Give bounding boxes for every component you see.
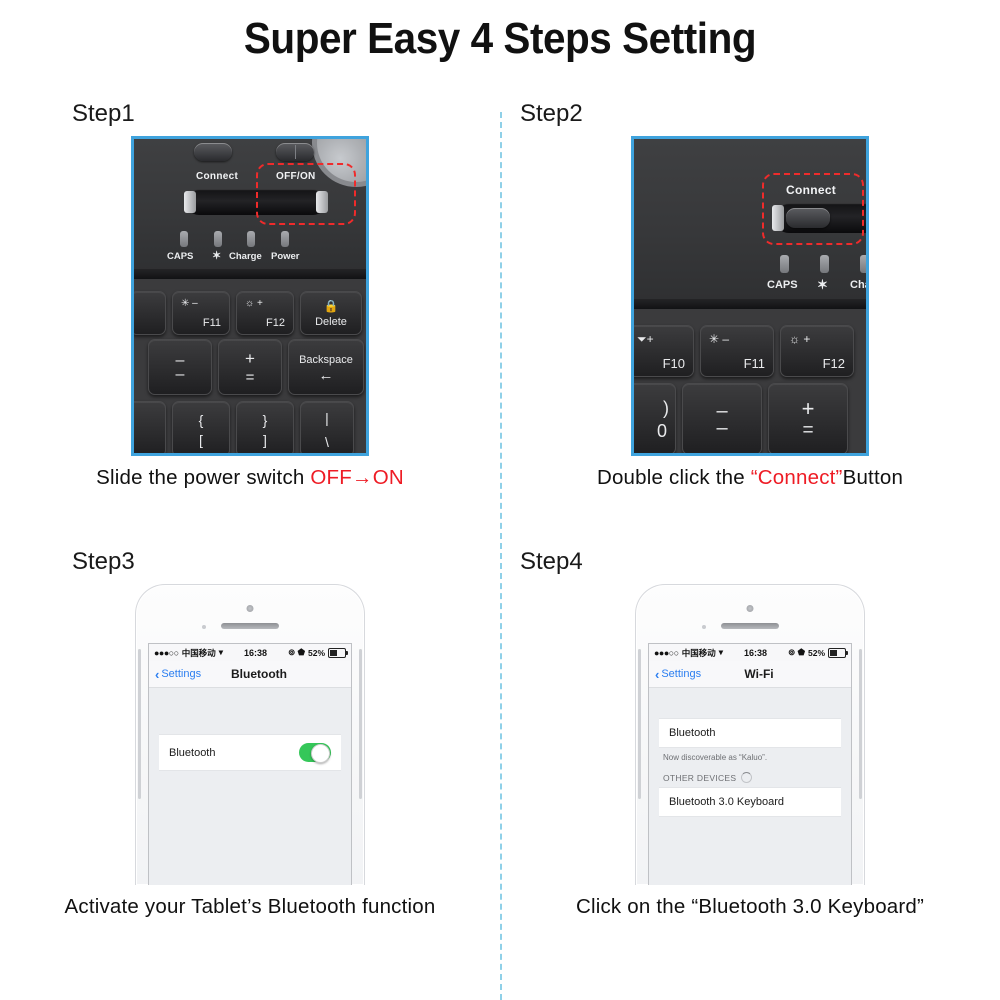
connect-switch-knob[interactable]: [194, 143, 232, 161]
key-plus-bottom: =: [769, 420, 847, 442]
led-charge: [860, 255, 869, 273]
screen-title: Bluetooth: [167, 667, 351, 681]
key-partial-p[interactable]: [131, 401, 166, 456]
battery-percent: 52%: [808, 648, 825, 658]
phone-bezel-right: [859, 649, 862, 799]
front-camera-icon: [747, 605, 754, 612]
key-f12-label: F12: [823, 356, 845, 371]
step-4-phone-mockup: ●●●○○ 中国移动 ▾ 16:38 ⊚ ⬟ 52% ‹ Settings: [635, 584, 865, 885]
key-brace-right: }: [237, 412, 293, 428]
key-backspace[interactable]: Backspace ←: [288, 339, 364, 395]
key-f12-glyph: ☼ +: [245, 298, 263, 309]
key-zero[interactable]: ) 0: [631, 383, 676, 455]
led-caps: [780, 255, 789, 273]
other-devices-header: OTHER DEVICES: [663, 772, 837, 783]
phone-bezel-right: [359, 649, 362, 799]
step-1-caption: Slide the power switch OFF→ON: [0, 466, 500, 490]
arrow-left-icon: ←: [289, 367, 363, 384]
led-bluetooth: [214, 231, 222, 247]
key-minus[interactable]: – –: [682, 383, 762, 455]
step-4-cell: Step4 ●●●○○ 中国移动 ▾ 16:38 ⊚ ⬟ 52%: [500, 548, 1000, 919]
status-left: ●●●○○ 中国移动 ▾: [654, 647, 723, 659]
bluetooth-row[interactable]: Bluetooth: [659, 718, 841, 748]
step-3-label: Step3: [72, 548, 500, 576]
key-backspace-label: Backspace: [289, 354, 363, 366]
key-minus[interactable]: – –: [148, 339, 212, 395]
led-label-caps: CAPS: [167, 251, 193, 262]
toggle-knob: [311, 744, 330, 763]
switch-cap-left: [184, 191, 196, 213]
key-f11-label: F11: [744, 356, 765, 371]
status-icons: ⊚ ⬟: [288, 647, 305, 658]
key-plus-bottom: =: [219, 369, 281, 386]
volume-up-icon: ⏷+: [637, 332, 654, 347]
bluetooth-row-label: Bluetooth: [669, 727, 715, 739]
step-2-cell: Step2 Connect CAPS ✶ Cha ⏷+ F10 ✳ – F11: [500, 100, 1000, 490]
key-backslash-label: \: [301, 434, 353, 450]
nav-bar: ‹ Settings Bluetooth: [149, 661, 351, 688]
key-bracket-left[interactable]: { [: [172, 401, 230, 456]
key-f11-glyph: ✳ –: [709, 332, 729, 346]
key-zero-label: 0: [657, 421, 667, 442]
battery-icon: [828, 648, 846, 658]
step-4-phone-screen: ●●●○○ 中国移动 ▾ 16:38 ⊚ ⬟ 52% ‹ Settings: [648, 643, 852, 885]
signal-dots-icon: ●●●○○: [654, 648, 679, 658]
key-f12[interactable]: ☼ + F12: [236, 291, 294, 335]
red-highlight-connect: [762, 173, 864, 245]
key-f11[interactable]: ✳ – F11: [172, 291, 230, 335]
chevron-left-icon: ‹: [155, 668, 159, 681]
key-delete[interactable]: 🔒 Delete: [300, 291, 362, 335]
key-plus[interactable]: + =: [768, 383, 848, 455]
screen-spacer: [149, 688, 351, 734]
step-2-keyboard-photo: Connect CAPS ✶ Cha ⏷+ F10 ✳ – F11 ☼ +: [631, 136, 869, 456]
screen-title: Wi-Fi: [667, 667, 851, 681]
screen-spacer: [649, 688, 851, 718]
step-1-caption-prefix: Slide the power switch: [96, 466, 310, 489]
key-f10-label: F10: [663, 356, 685, 371]
step-2-label: Step2: [520, 100, 1000, 128]
phone-bezel-left: [138, 649, 141, 799]
step-3-phone-mockup: ●●●○○ 中国移动 ▾ 16:38 ⊚ ⬟ 52% ‹ Settings: [135, 584, 365, 885]
step-2-caption-prefix: Double click the: [597, 466, 751, 489]
led-label-charge: Cha: [850, 279, 869, 291]
bluetooth-toggle[interactable]: [299, 743, 331, 762]
front-camera-icon: [247, 605, 254, 612]
proximity-sensor-icon: [702, 625, 706, 629]
step-1-caption-highlight: OFF→ON: [310, 466, 403, 489]
step-4-caption: Click on the “Bluetooth 3.0 Keyboard”: [500, 895, 1000, 919]
step-3-cell: Step3 ●●●○○ 中国移动 ▾ 16:38 ⊚ ⬟ 52%: [0, 548, 500, 919]
battery-percent: 52%: [308, 648, 325, 658]
carrier-label: 中国移动: [682, 647, 716, 659]
step-4-caption-text: Click on the “Bluetooth 3.0 Keyboard”: [576, 895, 924, 918]
bluetooth-icon: ✶: [212, 249, 221, 262]
status-time: 16:38: [723, 648, 788, 658]
step-1-label: Step1: [72, 100, 500, 128]
key-bracket-right[interactable]: } ]: [236, 401, 294, 456]
key-brace-left: {: [173, 412, 229, 428]
connect-label: Connect: [196, 171, 238, 182]
battery-icon: [328, 648, 346, 658]
status-right: ⊚ ⬟ 52%: [288, 647, 346, 658]
steps-grid: Step1 Connect OFF/ON CAPS ✶ Charge Power: [0, 100, 1000, 1000]
status-bar: ●●●○○ 中国移动 ▾ 16:38 ⊚ ⬟ 52%: [149, 644, 351, 661]
red-highlight-off-on: [256, 163, 356, 225]
step-2-caption-highlight: “Connect”: [751, 466, 843, 489]
key-paren-right: ): [663, 398, 669, 419]
key-bracket-left-label: [: [173, 432, 229, 448]
status-bar: ●●●○○ 中国移动 ▾ 16:38 ⊚ ⬟ 52%: [649, 644, 851, 661]
key-f12[interactable]: ☼ + F12: [780, 325, 854, 377]
step-3-caption: Activate your Tablet’s Bluetooth functio…: [0, 895, 500, 919]
step-1-cell: Step1 Connect OFF/ON CAPS ✶ Charge Power: [0, 100, 500, 490]
key-delete-label: Delete: [301, 316, 361, 328]
key-backslash[interactable]: | \: [300, 401, 354, 456]
earpiece-speaker: [221, 623, 279, 629]
led-label-caps: CAPS: [767, 279, 798, 291]
step-3-caption-text: Activate your Tablet’s Bluetooth functio…: [65, 895, 436, 918]
step-1-keyboard-photo: Connect OFF/ON CAPS ✶ Charge Power ✳ –: [131, 136, 369, 456]
key-plus-top: +: [769, 396, 847, 422]
earpiece-speaker: [721, 623, 779, 629]
key-f12-label: F12: [266, 317, 285, 329]
key-f10[interactable]: ⏷+ F10: [631, 325, 694, 377]
discoverable-note: Now discoverable as “Kaluo”.: [663, 753, 837, 762]
power-switch-knob[interactable]: [276, 143, 314, 161]
key-minus-bottom: –: [683, 417, 761, 440]
signal-dots-icon: ●●●○○: [154, 648, 179, 658]
led-bluetooth: [820, 255, 829, 273]
loading-spinner-icon: [741, 772, 752, 783]
led-label-power: Power: [271, 251, 300, 262]
lock-icon: 🔒: [301, 299, 361, 313]
other-devices-label: OTHER DEVICES: [663, 773, 736, 783]
step-3-phone-screen: ●●●○○ 中国移动 ▾ 16:38 ⊚ ⬟ 52% ‹ Settings: [148, 643, 352, 885]
proximity-sensor-icon: [202, 625, 206, 629]
status-time: 16:38: [223, 648, 288, 658]
device-name-label: Bluetooth 3.0 Keyboard: [669, 796, 784, 808]
status-left: ●●●○○ 中国移动 ▾: [154, 647, 223, 659]
nav-bar: ‹ Settings Wi-Fi: [649, 661, 851, 688]
key-f11-glyph: ✳ –: [181, 298, 198, 309]
bluetooth-icon: ✶: [817, 277, 828, 293]
bluetooth-toggle-row[interactable]: Bluetooth: [159, 734, 341, 771]
chevron-left-icon: ‹: [655, 668, 659, 681]
step-2-caption: Double click the “Connect”Button: [500, 466, 1000, 490]
key-f11-label: F11: [203, 317, 221, 329]
carrier-label: 中国移动: [182, 647, 216, 659]
led-label-charge: Charge: [229, 251, 262, 262]
led-caps: [180, 231, 188, 247]
status-right: ⊚ ⬟ 52%: [788, 647, 846, 658]
step-4-label: Step4: [520, 548, 1000, 576]
key-pipe: |: [301, 410, 353, 426]
bluetooth-row-label: Bluetooth: [169, 747, 215, 759]
key-plus[interactable]: + =: [218, 339, 282, 395]
phone-bezel-left: [638, 649, 641, 799]
status-icons: ⊚ ⬟: [788, 647, 805, 658]
key-plus-top: +: [219, 349, 281, 369]
key-f11[interactable]: ✳ – F11: [700, 325, 774, 377]
key-bracket-right-label: ]: [237, 432, 293, 448]
led-charge: [247, 231, 255, 247]
key-partial-left[interactable]: [131, 291, 166, 335]
step-2-caption-suffix: Button: [843, 466, 903, 489]
led-power: [281, 231, 289, 247]
key-minus-bottom: –: [149, 366, 211, 384]
page-title: Super Easy 4 Steps Setting: [40, 0, 960, 64]
device-row-bluetooth-keyboard[interactable]: Bluetooth 3.0 Keyboard: [659, 787, 841, 817]
key-f12-glyph: ☼ +: [789, 332, 810, 346]
